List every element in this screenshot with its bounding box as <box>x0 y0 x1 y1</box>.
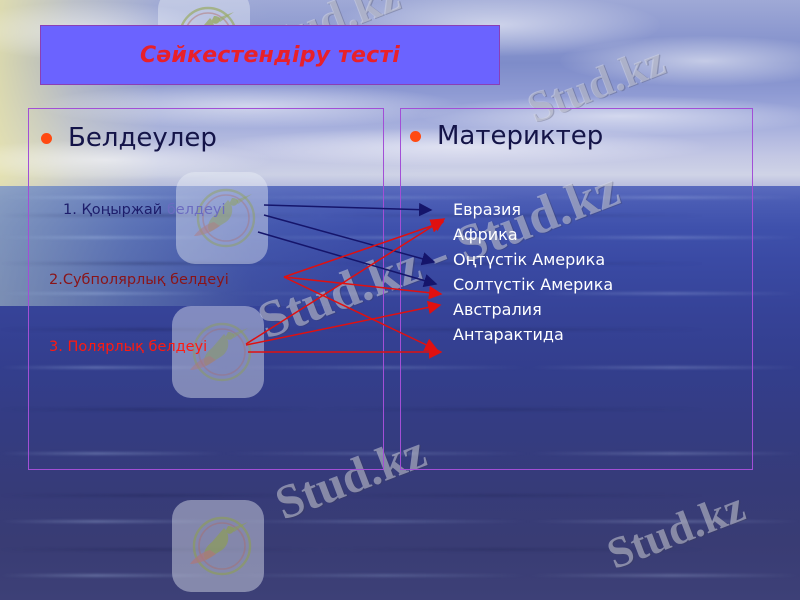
zone-item-2-name: 2.Субполярлық белдеуі <box>49 272 229 288</box>
bullet-icon <box>41 133 52 144</box>
zone-item-1[interactable]: 1. Қоңыржай белдеуі <box>63 202 226 218</box>
zone-item-2[interactable]: 2.Субполярлық белдеуі <box>49 272 229 288</box>
title-banner: Сәйкестендіру тесті <box>40 25 500 85</box>
zones-panel: Белдеулер 1. Қоңыржай белдеуі 2.Субполяр… <box>28 108 384 470</box>
zone-item-1-number: 1. <box>63 202 81 218</box>
zone-item-1-tail: белдеуі <box>167 202 226 218</box>
zones-heading-label: Белдеулер <box>68 123 217 153</box>
zone-item-3-name: 3. Полярлық белдеуі <box>49 339 207 355</box>
bullet-icon <box>410 131 421 142</box>
zone-item-1-name: Қоңыржай <box>81 202 166 218</box>
list-item[interactable]: Оңтүстік Америка <box>453 247 613 272</box>
continents-panel: Материктер Евразия Африка Оңтүстік Амери… <box>400 108 753 470</box>
zone-item-3[interactable]: 3. Полярлық белдеуі <box>49 339 207 355</box>
continents-heading-label: Материктер <box>437 121 603 151</box>
list-item[interactable]: Африка <box>453 222 613 247</box>
slide-canvas: Stud.kz - Stud.kz Stud.kz Stud.kz - Stud… <box>0 0 800 600</box>
continent-list: Евразия Африка Оңтүстік Америка Солтүсті… <box>453 197 613 347</box>
list-item[interactable]: Антарактида <box>453 322 613 347</box>
continents-panel-heading: Материктер <box>410 121 603 151</box>
zones-panel-heading: Белдеулер <box>41 123 217 153</box>
page-title: Сәйкестендіру тесті <box>140 43 400 68</box>
list-item[interactable]: Солтүстік Америка <box>453 272 613 297</box>
list-item[interactable]: Австралия <box>453 297 613 322</box>
list-item[interactable]: Евразия <box>453 197 613 222</box>
